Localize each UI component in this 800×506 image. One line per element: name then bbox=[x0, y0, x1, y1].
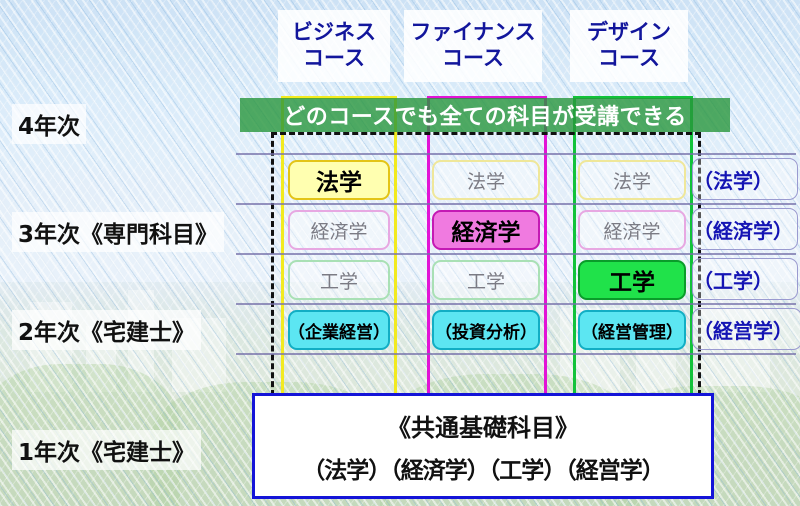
banner-all-subjects-available: どのコースでも全ての科目が受講できる bbox=[240, 98, 730, 132]
subject-cell-label: 経済学 bbox=[452, 213, 521, 247]
right-label-economics: （経済学） bbox=[692, 208, 798, 250]
right-label-engineering: （工学） bbox=[692, 258, 798, 300]
right-label-text: （経営学） bbox=[693, 315, 793, 344]
subject-cell-label: 工学 bbox=[609, 263, 655, 297]
course-header-business[interactable]: ビジネス コース bbox=[278, 10, 390, 82]
year-label-3: 3年次《専門科目》 bbox=[12, 212, 224, 252]
subject-cell-engineering-finance[interactable]: 工学 bbox=[432, 260, 540, 300]
subject-cell-label: 法学 bbox=[316, 163, 362, 197]
right-label-management: （経営学） bbox=[692, 308, 800, 350]
course-header-finance[interactable]: ファイナンス コース bbox=[404, 10, 542, 82]
course-name-line1: ビジネス bbox=[292, 20, 376, 46]
subject-cell-label: 法学 bbox=[613, 167, 651, 194]
right-label-text: （経済学） bbox=[693, 215, 793, 244]
course-name-line2: コース bbox=[292, 46, 376, 72]
course-name-line1: ファイナンス bbox=[410, 20, 535, 46]
right-label-text: （法学） bbox=[693, 165, 773, 194]
year-label-text: 3年次《専門科目》 bbox=[18, 215, 218, 249]
subject-cell-label: （経営管理） bbox=[581, 318, 683, 343]
common-core-title: 《共通基礎科目》 bbox=[387, 408, 579, 443]
subject-cell-law-business[interactable]: 法学 bbox=[288, 160, 390, 200]
subject-cell-management-finance[interactable]: （投資分析） bbox=[432, 310, 540, 350]
row-separator bbox=[236, 203, 796, 205]
subject-cell-label: （企業経営） bbox=[288, 318, 390, 343]
year-label-1: 1年次《宅建士》 bbox=[12, 430, 201, 470]
common-core-subjects: （法学）（経済学）（工学）（経営学） bbox=[302, 451, 664, 485]
subject-cell-label: 経済学 bbox=[310, 217, 367, 244]
common-core-box[interactable]: 《共通基礎科目》 （法学）（経済学）（工学）（経営学） bbox=[252, 393, 714, 499]
subject-cell-economics-finance[interactable]: 経済学 bbox=[432, 210, 540, 250]
subject-cell-label: 工学 bbox=[320, 267, 358, 294]
row-separator bbox=[236, 153, 796, 155]
subject-cell-management-design[interactable]: （経営管理） bbox=[578, 310, 686, 350]
year-label-text: 1年次《宅建士》 bbox=[18, 433, 195, 467]
subject-cell-economics-design[interactable]: 経済学 bbox=[578, 210, 686, 250]
row-separator bbox=[236, 353, 796, 355]
banner-text: どのコースでも全ての科目が受講できる bbox=[283, 99, 686, 131]
subject-cell-law-design[interactable]: 法学 bbox=[578, 160, 686, 200]
year-label-text: 4年次 bbox=[18, 107, 80, 141]
year-label-4: 4年次 bbox=[12, 104, 86, 144]
subject-cell-label: 経済学 bbox=[603, 217, 660, 244]
subject-cell-label: （投資分析） bbox=[435, 318, 537, 343]
subject-cell-engineering-design[interactable]: 工学 bbox=[578, 260, 686, 300]
subject-cell-label: 工学 bbox=[467, 267, 505, 294]
right-label-law: （法学） bbox=[692, 158, 798, 200]
course-name-line2: コース bbox=[587, 46, 671, 72]
subject-cell-label: 法学 bbox=[467, 167, 505, 194]
subject-cell-management-business[interactable]: （企業経営） bbox=[288, 310, 390, 350]
year-label-2: 2年次《宅建士》 bbox=[12, 310, 201, 350]
subject-cell-engineering-business[interactable]: 工学 bbox=[288, 260, 390, 300]
subject-cell-economics-business[interactable]: 経済学 bbox=[288, 210, 390, 250]
subject-cell-law-finance[interactable]: 法学 bbox=[432, 160, 540, 200]
course-header-design[interactable]: デザイン コース bbox=[570, 10, 688, 82]
right-label-text: （工学） bbox=[693, 265, 773, 294]
course-name-line2: コース bbox=[410, 46, 535, 72]
row-separator bbox=[236, 303, 796, 305]
row-separator bbox=[236, 253, 796, 255]
year-label-text: 2年次《宅建士》 bbox=[18, 313, 195, 347]
course-name-line1: デザイン bbox=[587, 20, 671, 46]
